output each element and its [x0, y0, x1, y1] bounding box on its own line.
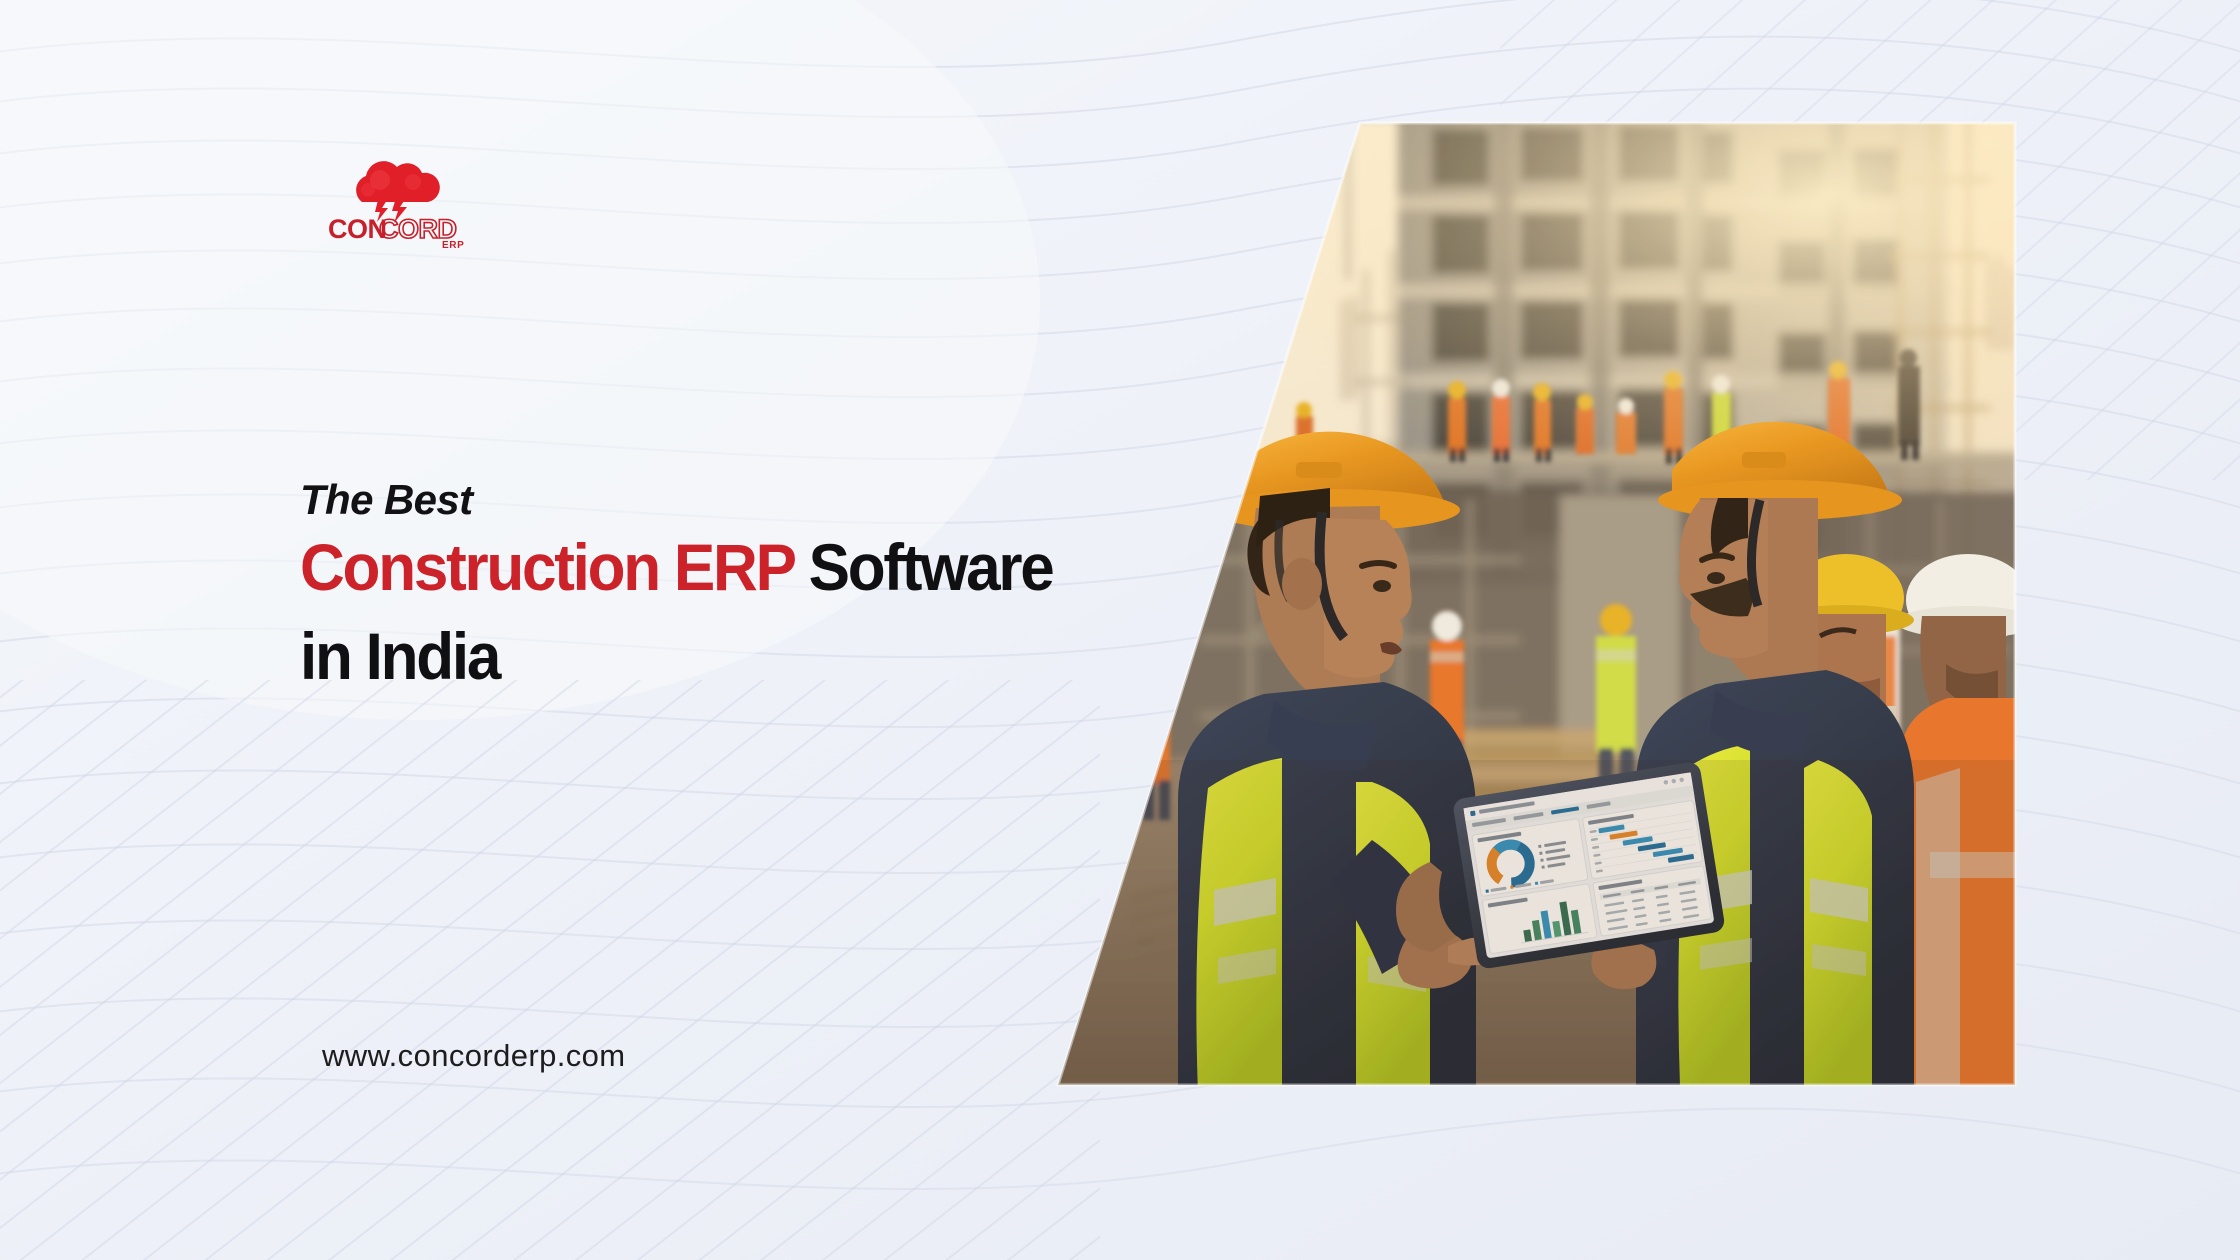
background-hatch-bottom-left	[0, 680, 1100, 1260]
headline-eyebrow: The Best	[300, 478, 1180, 522]
logo-subtitle: ERP	[442, 240, 464, 248]
headline-rest-text: Software	[794, 530, 1053, 604]
tablet-erp-dashboard	[1452, 761, 1726, 970]
worker-fourth	[1896, 554, 2040, 1088]
storm-cloud-icon	[356, 161, 440, 202]
headline-line-1: Construction ERP Software	[300, 534, 1127, 601]
logo-wordmark-solid: CON	[328, 214, 387, 244]
headline-block: The Best Construction ERP Software in In…	[300, 478, 1180, 691]
pointing-hand	[1398, 929, 1510, 989]
midground-workers	[1140, 597, 1900, 820]
worker-third	[1778, 554, 1914, 1128]
headline-line-2: in India	[300, 623, 1127, 690]
headline-accent-text: Construction ERP	[300, 530, 794, 604]
engineer-right	[1591, 422, 1914, 1086]
concord-erp-logo[interactable]: CON CORD ERP	[318, 158, 478, 248]
banner-root: CON CORD ERP The Best Construction ERP S…	[0, 0, 2240, 1260]
engineer-left	[1178, 432, 1510, 1094]
background-hatch-top-right	[1500, 0, 2240, 480]
background-workers	[1296, 349, 1920, 464]
supporting-hand-left	[1396, 862, 1456, 952]
site-url-text[interactable]: www.concorderp.com	[322, 1038, 626, 1074]
